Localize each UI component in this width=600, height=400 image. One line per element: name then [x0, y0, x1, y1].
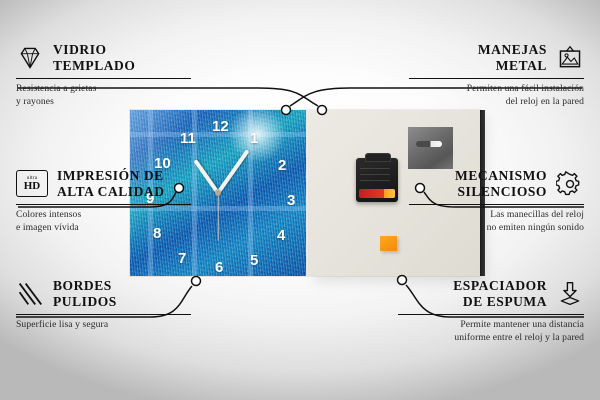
callout-title-impresion: IMPRESIÓN DE ALTA CALIDAD — [57, 168, 165, 200]
callout-desc-vidrio: Resistencia a grietas y rayones — [16, 83, 191, 108]
callout-rule — [409, 78, 584, 80]
callout-rule — [16, 204, 191, 206]
callout-desc-espaciador: Permite mantener una distancia uniforme … — [398, 319, 584, 344]
callout-vidrio-templado[interactable]: VIDRIO TEMPLADO Resistencia a grietas y … — [16, 42, 191, 109]
hanger-slot — [416, 141, 442, 147]
desc-line-2: del reloj en la pared — [506, 96, 584, 107]
callout-desc-bordes: Superficie lisa y segura — [16, 319, 191, 332]
title-line-2: PULIDOS — [53, 294, 117, 309]
callout-rule — [398, 314, 584, 316]
callout-rule — [16, 78, 191, 80]
clock-numeral-4: 4 — [277, 228, 285, 243]
callout-title-manejas: MANEJAS METAL — [478, 42, 547, 74]
movement-battery — [359, 189, 395, 198]
title-line-1: MANEJAS — [478, 42, 547, 57]
callout-manejas-metal[interactable]: MANEJAS METAL Permiten una fácil instala… — [409, 42, 584, 109]
callout-rule — [16, 314, 191, 316]
title-line-1: IMPRESIÓN DE — [57, 168, 164, 183]
desc-line-2: uniforme entre el reloj y la pared — [454, 332, 584, 343]
title-line-1: VIDRIO — [53, 42, 107, 57]
desc-line-1: Colores intensos — [16, 209, 81, 220]
title-line-2: TEMPLADO — [53, 58, 135, 73]
title-line-2: DE ESPUMA — [463, 294, 547, 309]
clock-numeral-11: 11 — [180, 131, 196, 146]
callout-bordes-pulidos[interactable]: BORDES PULIDOS Superficie lisa y segura — [16, 278, 191, 332]
title-line-2: ALTA CALIDAD — [57, 184, 165, 199]
arrow-down-pad-icon — [556, 281, 584, 307]
callout-desc-manejas: Permiten una fácil instalación del reloj… — [409, 83, 584, 108]
movement-hook — [365, 153, 391, 162]
callout-title-mecanismo: MECANISMO SILENCIOSO — [455, 168, 547, 200]
movement-detail-line — [360, 180, 390, 181]
clock-hour-hand — [193, 159, 219, 194]
movement-detail-line — [360, 168, 390, 169]
clock-numeral-5: 5 — [250, 253, 258, 268]
clock-numeral-1: 1 — [250, 131, 258, 146]
movement-detail-line — [360, 174, 390, 175]
picture-hanger-icon — [556, 45, 584, 71]
clock-numeral-3: 3 — [287, 193, 295, 208]
callout-desc-mecanismo: Las manecillas del reloj no emiten ningú… — [409, 209, 584, 234]
clock-numeral-12: 12 — [212, 119, 229, 134]
clock-numeral-2: 2 — [278, 158, 286, 173]
desc-line-1: Las manecillas del reloj — [490, 209, 584, 220]
infographic-canvas: 12 1 2 3 4 5 6 7 8 9 10 11 — [0, 0, 600, 400]
clock-numeral-6: 6 — [215, 260, 223, 275]
desc-line-1: Permite mantener una distancia — [460, 319, 584, 330]
callout-rule — [409, 204, 584, 206]
connector-endpoint-bordes — [192, 277, 201, 286]
desc-line-1: Permiten una fácil instalación — [467, 83, 584, 94]
callout-desc-impresion: Colores intensos e imagen vívida — [16, 209, 191, 234]
desc-line-2: y rayones — [16, 96, 54, 107]
desc-line-2: e imagen vívida — [16, 222, 79, 233]
callout-title-bordes: BORDES PULIDOS — [53, 278, 117, 310]
ultra-hd-badge-icon: ultra HD — [16, 170, 48, 197]
foam-spacer-part — [380, 236, 397, 251]
callout-impresion-alta-calidad[interactable]: ultra HD IMPRESIÓN DE ALTA CALIDAD Color… — [16, 168, 191, 235]
desc-line-2: no emiten ningún sonido — [487, 222, 584, 233]
title-line-1: BORDES — [53, 278, 112, 293]
metal-hanger-part — [408, 127, 453, 169]
diagonal-lines-icon — [16, 281, 44, 307]
title-line-2: METAL — [496, 58, 547, 73]
clock-numeral-7: 7 — [178, 251, 186, 266]
callout-title-espaciador: ESPACIADOR DE ESPUMA — [453, 278, 547, 310]
callout-title-vidrio: VIDRIO TEMPLADO — [53, 42, 135, 74]
desc-line-1: Resistencia a grietas — [16, 83, 96, 94]
diamond-icon — [16, 45, 44, 71]
badge-large-text: HD — [24, 181, 41, 193]
title-line-2: SILENCIOSO — [457, 184, 547, 199]
title-line-1: MECANISMO — [455, 168, 547, 183]
desc-line-1: Superficie lisa y segura — [16, 319, 108, 330]
title-line-1: ESPACIADOR — [453, 278, 547, 293]
callout-mecanismo-silencioso[interactable]: MECANISMO SILENCIOSO Las manecillas del … — [409, 168, 584, 235]
callout-espaciador-espuma[interactable]: ESPACIADOR DE ESPUMA Permite mantener un… — [398, 278, 584, 345]
clock-second-hand — [217, 193, 218, 241]
clock-center-pin — [215, 190, 221, 196]
gear-icon — [556, 171, 584, 197]
quartz-movement-part — [356, 158, 398, 202]
